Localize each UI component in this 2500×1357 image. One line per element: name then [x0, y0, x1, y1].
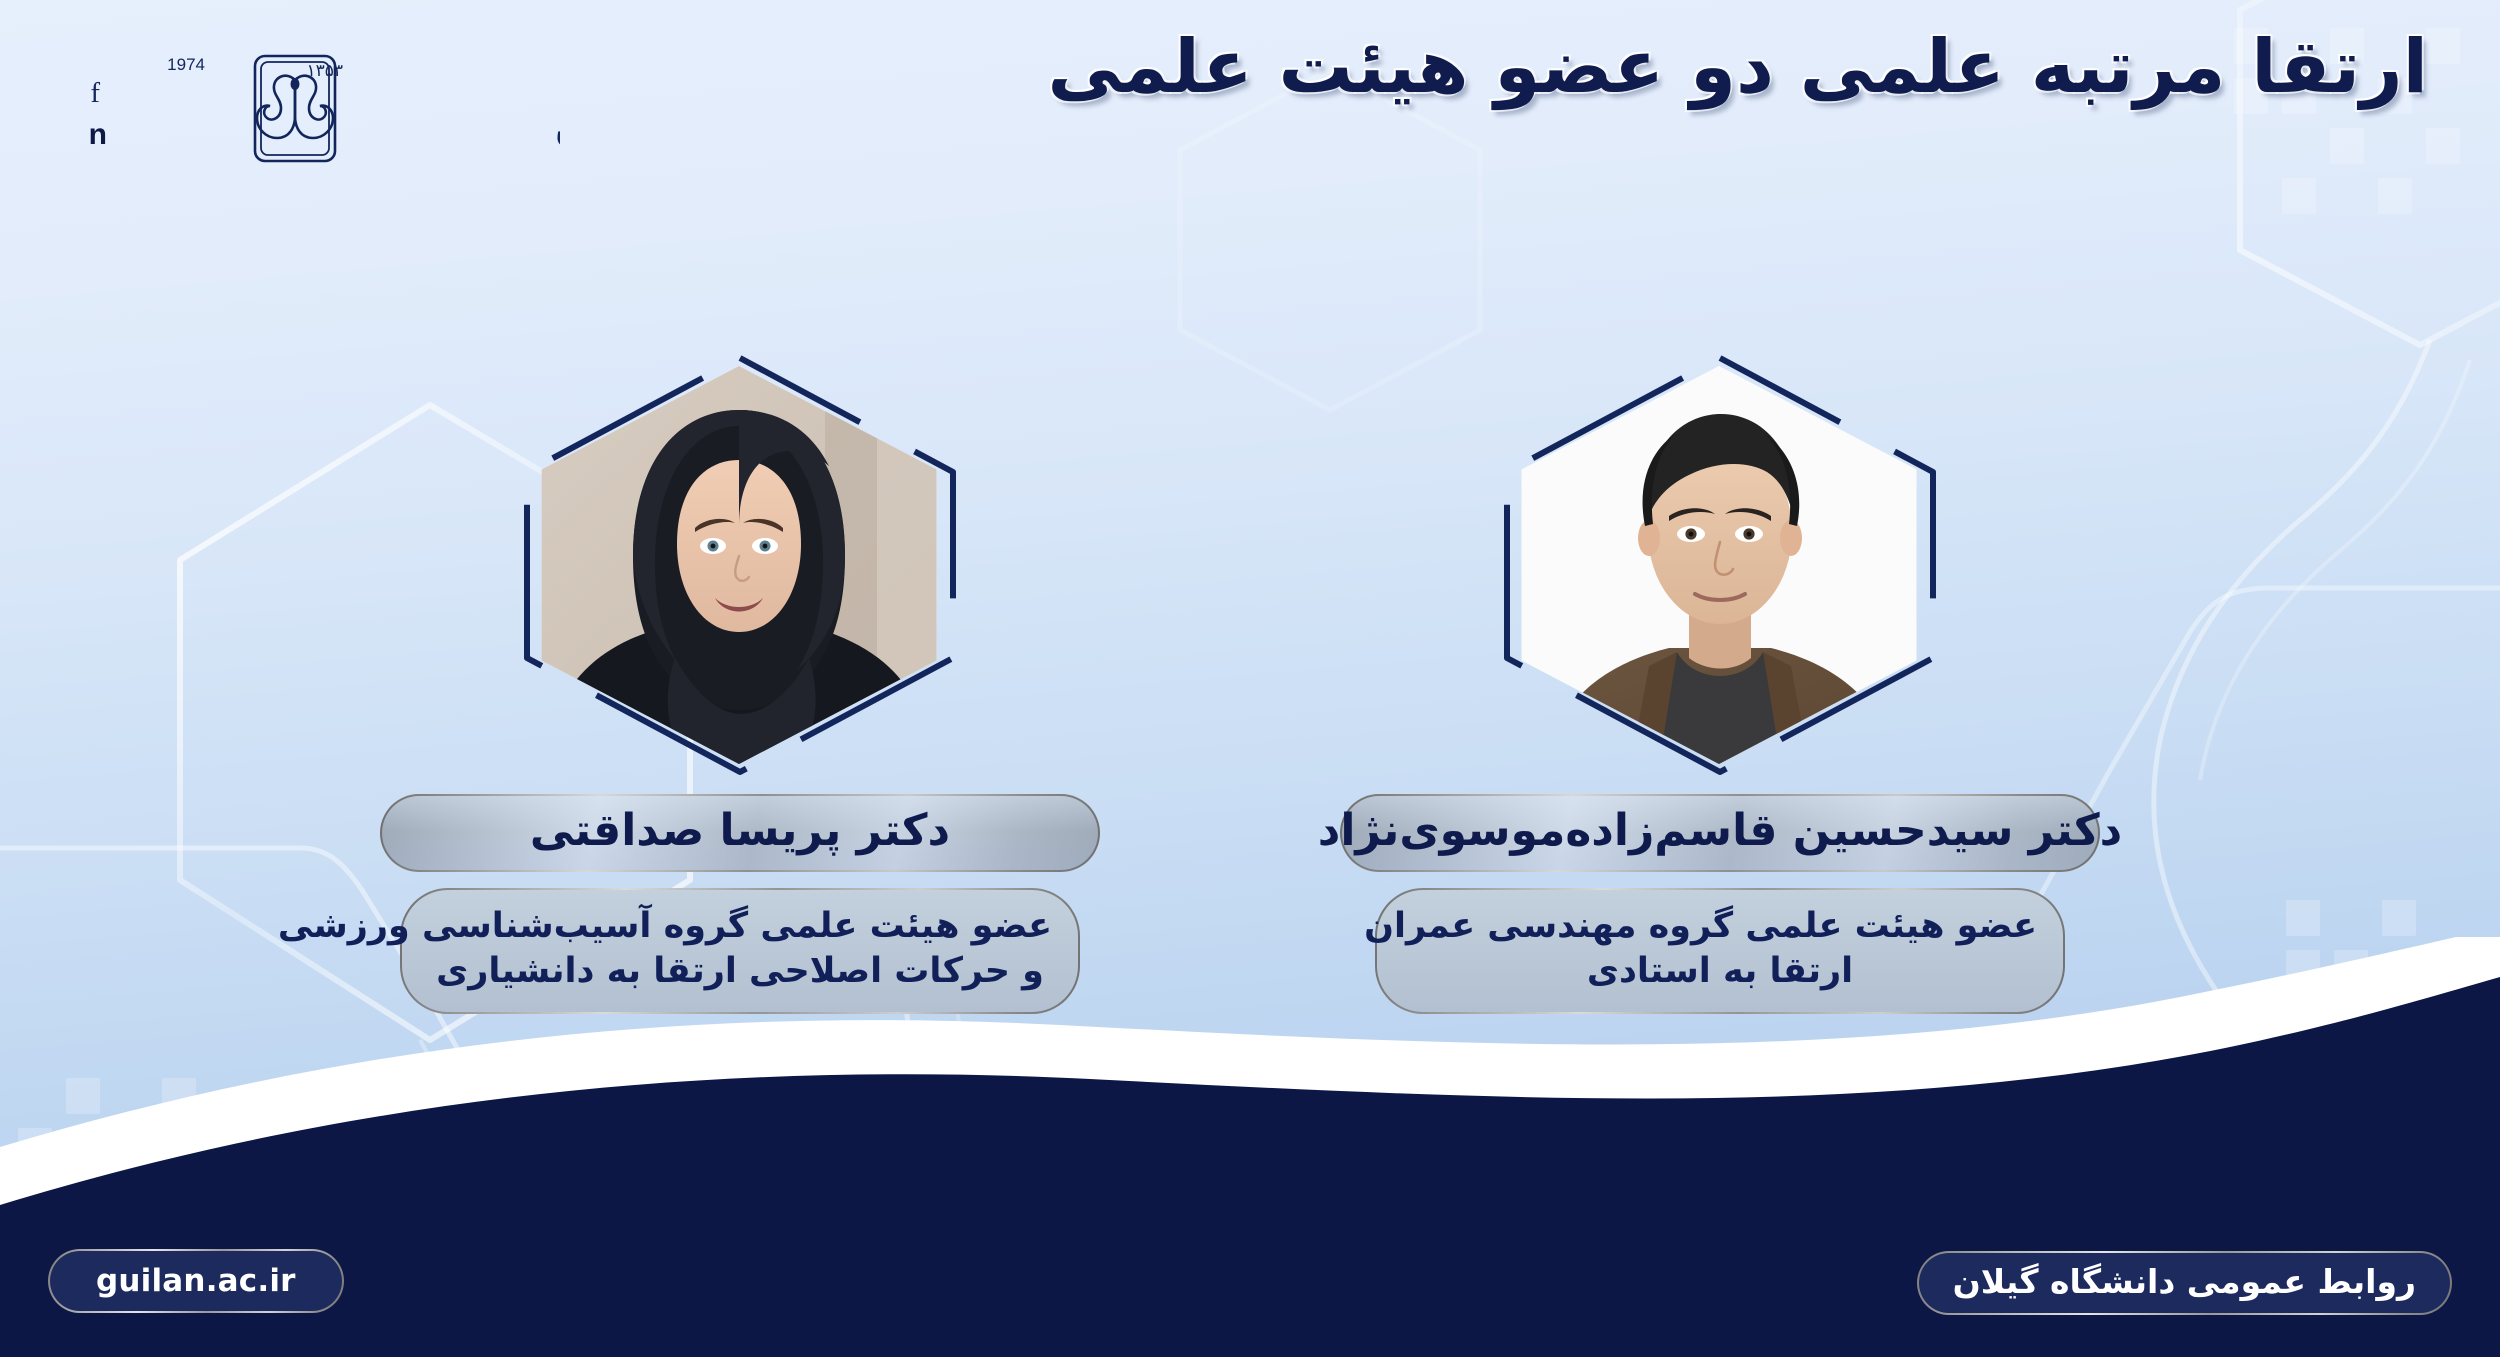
page-title: ارتقا مرتبه علمی دو عضو هیئت علمی	[1008, 22, 2428, 112]
public-relations-badge: روابط عمومی دانشگاه گیلان	[1917, 1251, 2452, 1315]
website-url: guilan.ac.ir	[96, 1263, 296, 1299]
svg-text:1974: 1974	[167, 55, 205, 74]
svg-text:دانشگاه گیلان: دانشگاه گیلان	[555, 104, 560, 151]
svg-text:Guilan: Guilan	[90, 118, 112, 151]
faculty-name-pill-2: دکتر سیدحسین قاسم‌زاده‌موسوی‌نژاد	[1340, 794, 2100, 872]
photo-frame-1	[505, 350, 975, 780]
photo-frame-2	[1485, 350, 1955, 780]
svg-text:University of: University of	[90, 77, 100, 109]
university-logo: University of Guilan 1974 ۱۳۵۳ دانشگاه گ…	[90, 36, 560, 176]
hexagon-frame-outline-1	[505, 350, 975, 780]
faculty-name-pill-1: دکتر پریسا صداقتی	[380, 794, 1100, 872]
website-badge[interactable]: guilan.ac.ir	[48, 1249, 344, 1313]
svg-text:۱۳۵۳: ۱۳۵۳	[306, 61, 343, 81]
hexagon-frame-outline-2	[1485, 350, 1955, 780]
public-relations-label: روابط عمومی دانشگاه گیلان	[1953, 1262, 2416, 1305]
faculty-card-1: دکتر پریسا صداقتی عضو هیئت علمی گروه آسی…	[330, 350, 1150, 1014]
guilan-university-emblem-icon: University of Guilan 1974 ۱۳۵۳ دانشگاه گ…	[90, 36, 560, 176]
faculty-name-2: دکتر سیدحسین قاسم‌زاده‌موسوی‌نژاد	[1318, 809, 2122, 857]
faculty-name-1: دکتر پریسا صداقتی	[530, 809, 950, 857]
poster-canvas: University of Guilan 1974 ۱۳۵۳ دانشگاه گ…	[0, 0, 2500, 1357]
faculty-card-2: دکتر سیدحسین قاسم‌زاده‌موسوی‌نژاد عضو هی…	[1310, 350, 2130, 1014]
